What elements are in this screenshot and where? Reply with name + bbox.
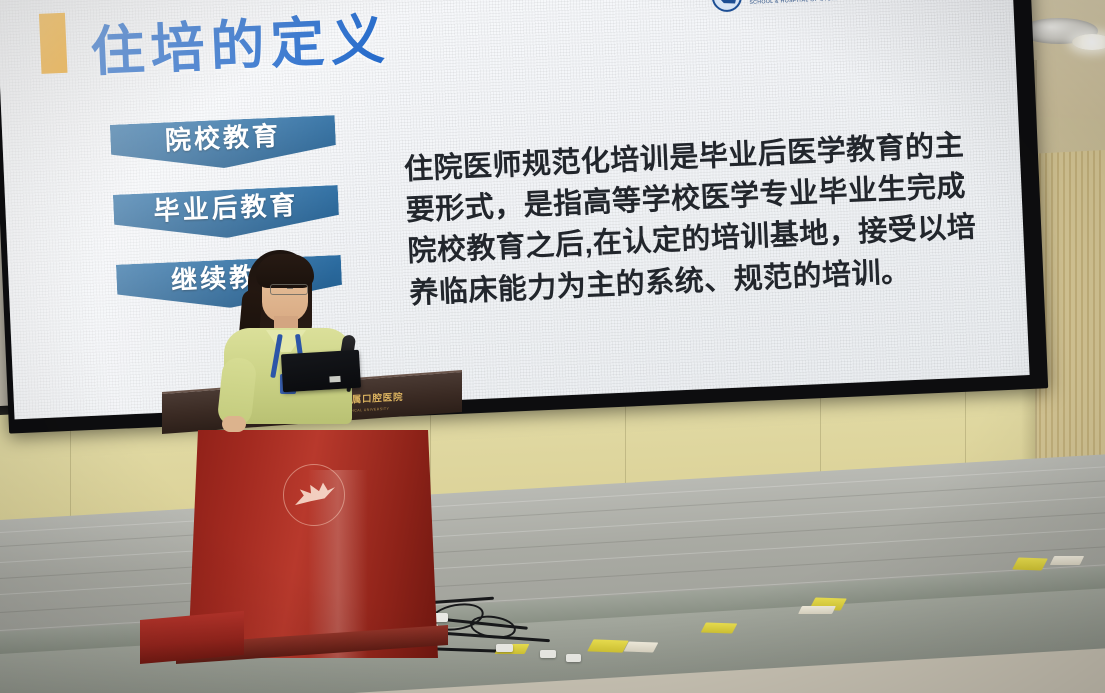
cable-connector — [496, 644, 513, 652]
flow-step-2: 毕业后教育 — [113, 185, 340, 243]
laptop — [281, 350, 361, 393]
floor-tape-marker — [798, 606, 836, 614]
lecture-hall-photo: 住培的定义 温州医科大学 口腔医学院 · 附属口腔医院 SCHOOL & HOS… — [0, 0, 1105, 693]
slide-logo: 温州医科大学 口腔医学院 · 附属口腔医院 SCHOOL & HOSPITAL … — [711, 0, 989, 12]
title-accent-bar — [39, 13, 68, 74]
floor-tape-marker — [1012, 557, 1048, 570]
presenter-hand — [222, 416, 246, 432]
floor-tape-marker — [624, 641, 659, 652]
podium: 温州医科大学 口腔医学院·附属口腔医院 SCHOOL & HOSPITAL OF… — [150, 392, 470, 677]
flow-step-2-label: 毕业后教育 — [153, 187, 299, 226]
screen-surface: 住培的定义 温州医科大学 口腔医学院 · 附属口腔医院 SCHOOL & HOS… — [0, 0, 1030, 419]
slide-title: 住培的定义 — [89, 0, 392, 87]
flow-step-1: 院校教育 — [110, 115, 337, 173]
slide-body-text: 住院医师规范化培训是毕业后医学教育的主要形式，是指高等学校医学专业毕业生完成院校… — [403, 125, 990, 315]
floor-tape-marker — [1050, 556, 1084, 565]
presenter — [218, 248, 358, 423]
cable-connector — [566, 654, 581, 662]
university-crest-icon — [711, 0, 742, 12]
floor-tape-marker — [587, 639, 629, 652]
cable-connector — [540, 650, 556, 658]
flow-step-1-label: 院校教育 — [164, 117, 281, 155]
slide-logo-en: SCHOOL & HOSPITAL OF STOMATOLOGY, WENZHO… — [749, 0, 989, 6]
led-display-screen: 住培的定义 温州医科大学 口腔医学院 · 附属口腔医院 SCHOOL & HOS… — [0, 0, 1048, 434]
presenter-hair-front — [256, 254, 314, 288]
leaf-branch-emblem-icon — [283, 464, 345, 526]
presenter-glasses — [270, 284, 308, 295]
podium-step — [140, 611, 244, 664]
floor-tape-marker — [701, 622, 738, 633]
ceiling-downlight — [1072, 34, 1105, 50]
